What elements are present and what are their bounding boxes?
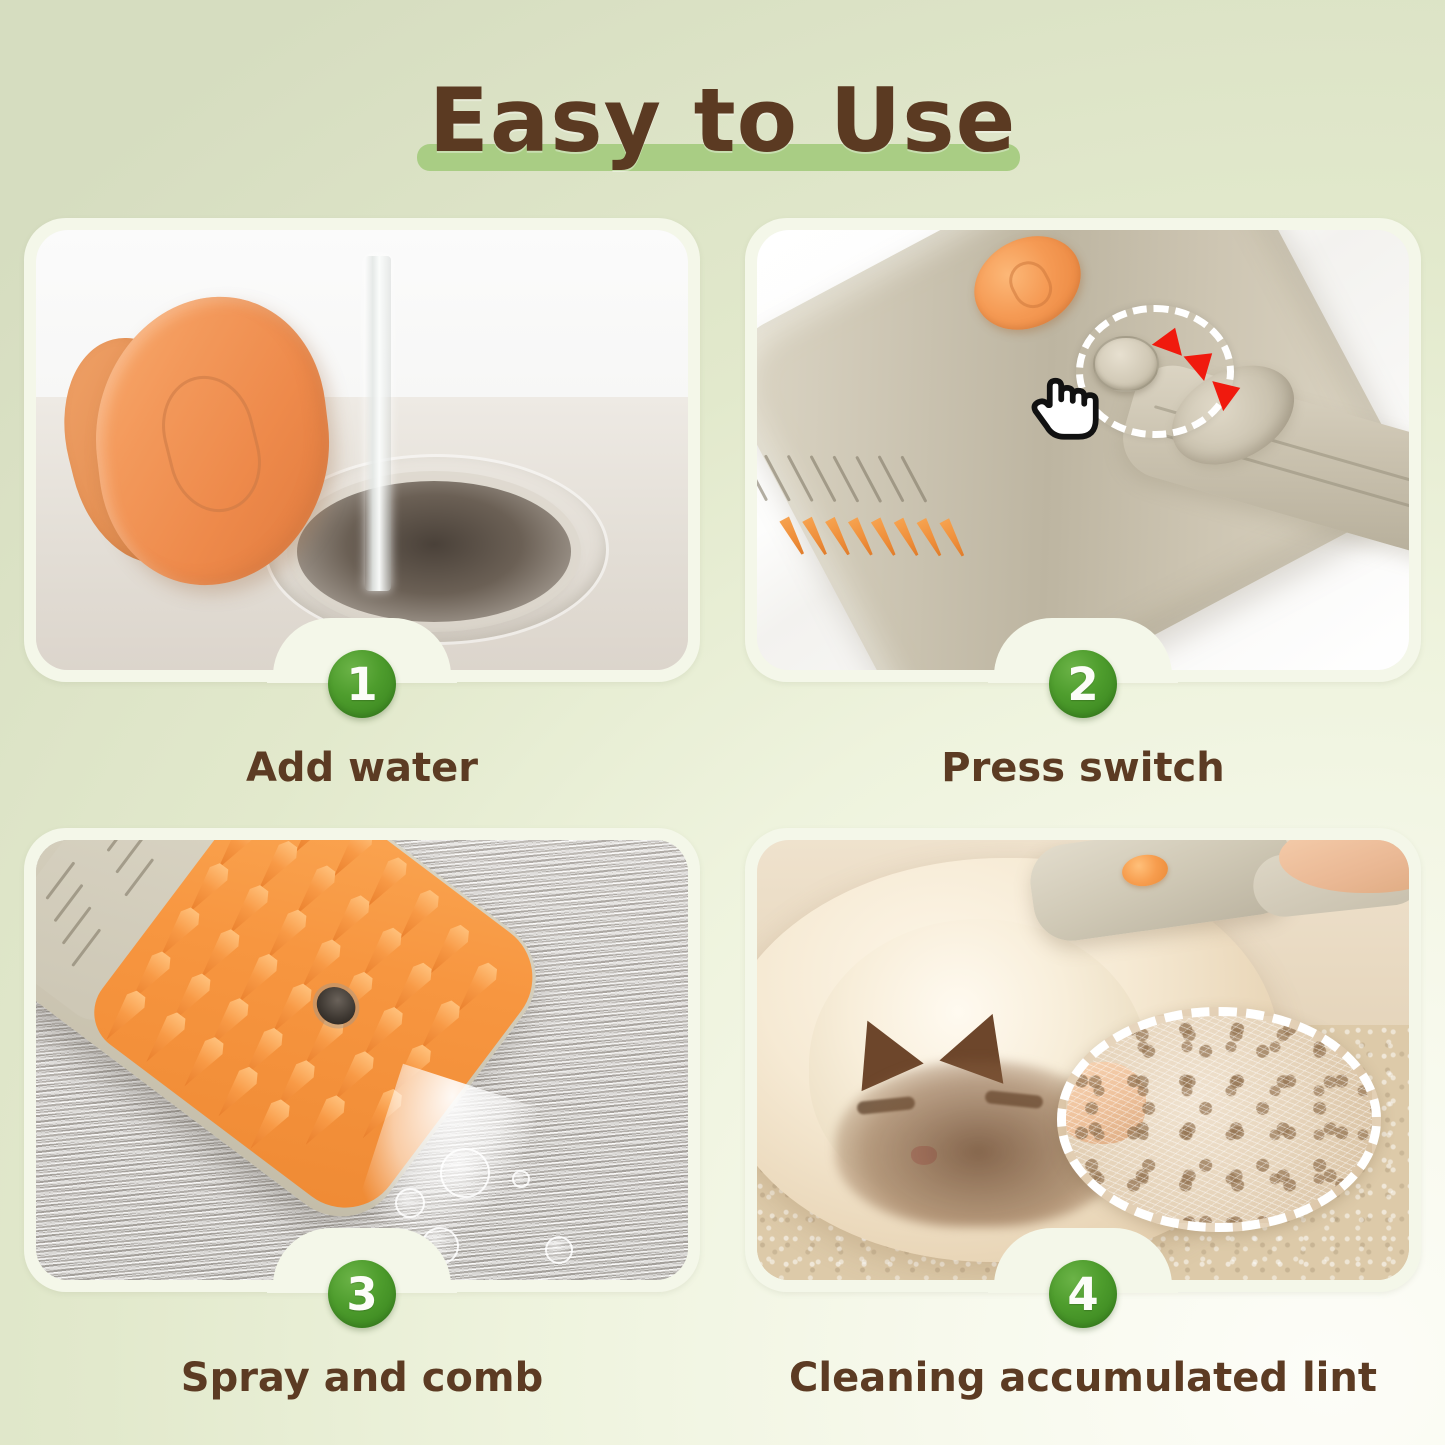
step-badge-4: 4	[1049, 1260, 1117, 1328]
cleaning-lint-photo	[757, 840, 1409, 1280]
step-badge-3: 3	[328, 1260, 396, 1328]
step-card-2-photo-clip	[757, 230, 1409, 670]
page-title: Easy to Use	[0, 62, 1445, 180]
spray-and-comb-photo	[36, 840, 688, 1280]
step-caption-4: Cleaning accumulated lint	[745, 1355, 1421, 1401]
step-card-3: 3	[24, 828, 700, 1292]
step-card-4: 4	[745, 828, 1421, 1292]
step-badge-1: 1	[328, 650, 396, 718]
step-badge-2: 2	[1049, 650, 1117, 718]
step-badge-1-number: 1	[346, 662, 377, 707]
step-card-1: 1	[24, 218, 700, 682]
press-switch-photo	[757, 230, 1409, 670]
step-card-4-photo-clip	[757, 840, 1409, 1280]
infographic-page: Easy to Use 1 Add water	[0, 0, 1445, 1445]
water-bubble	[545, 1236, 573, 1264]
hand-pointer-cursor	[1021, 362, 1113, 454]
water-bubble	[512, 1170, 530, 1188]
water-stream	[365, 256, 391, 590]
water-bubble	[395, 1188, 425, 1218]
water-filling-tank-photo	[36, 230, 688, 670]
accumulated-lint-fibers	[1066, 1016, 1372, 1223]
step-card-1-photo-clip	[36, 230, 688, 670]
page-title-block: Easy to Use	[0, 62, 1445, 182]
water-bubble	[440, 1148, 490, 1198]
step-caption-2: Press switch	[745, 745, 1421, 791]
step-badge-3-number: 3	[346, 1272, 377, 1317]
step-card-3-photo-clip	[36, 840, 688, 1280]
step-caption-3: Spray and comb	[24, 1355, 700, 1401]
step-badge-4-number: 4	[1067, 1272, 1098, 1317]
step-badge-2-number: 2	[1067, 662, 1098, 707]
lint-zoom-callout	[1057, 1007, 1381, 1232]
step-caption-1: Add water	[24, 745, 700, 791]
step-card-2: 2	[745, 218, 1421, 682]
